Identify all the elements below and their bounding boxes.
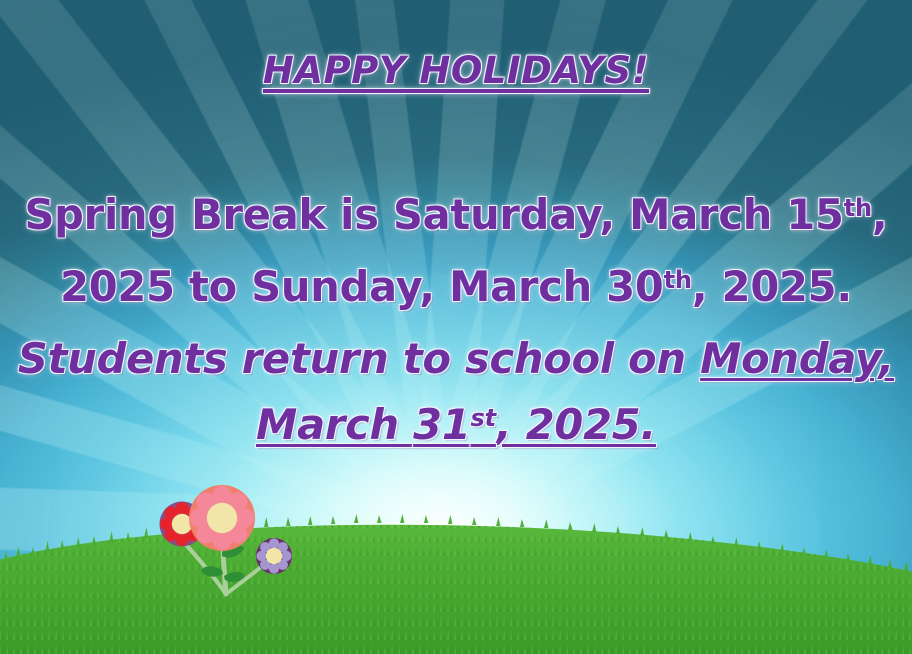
return-day-31: 31 — [413, 400, 470, 449]
announcement-slide: HAPPY HOLIDAYS! Spring Break is Saturday… — [0, 0, 912, 654]
body-segment-plain-1: Spring Break is Saturday, March — [24, 190, 786, 239]
body-day-30: 30 — [606, 262, 663, 311]
body-day-15: 15 — [786, 190, 843, 239]
body-segment-tail: , — [692, 262, 722, 311]
ordinal-suffix-th-15: th — [844, 194, 872, 222]
page-title: HAPPY HOLIDAYS! — [0, 52, 912, 91]
announcement-body: Spring Break is Saturday, March 15th, 20… — [10, 182, 902, 464]
return-date-suffix: , 2025. — [496, 400, 656, 449]
body-segment-italic: Students return to school on — [18, 334, 700, 383]
ordinal-suffix-th-30: th — [664, 266, 692, 294]
page-title-text: HAPPY HOLIDAYS! — [263, 49, 649, 92]
text-layer: HAPPY HOLIDAYS! Spring Break is Saturday… — [0, 0, 912, 654]
ordinal-suffix-st-31: st — [471, 404, 496, 432]
body-segment-plain-2: 2025. — [722, 262, 852, 311]
